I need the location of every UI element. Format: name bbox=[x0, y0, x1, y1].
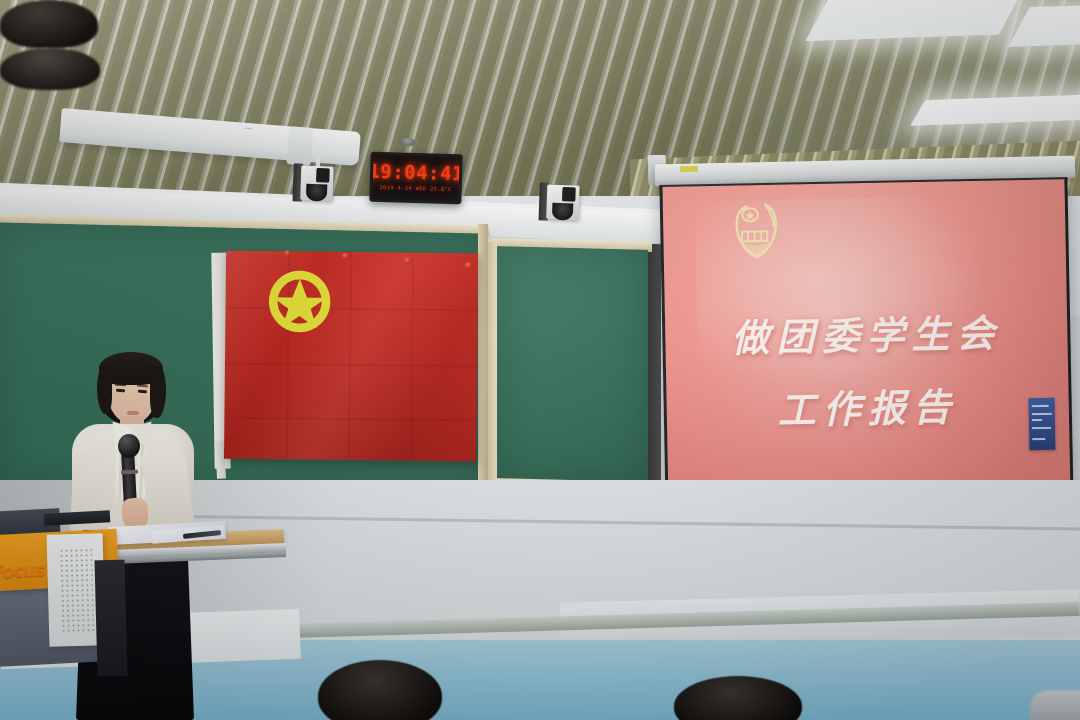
speaker-grille-icon bbox=[59, 548, 94, 633]
chalkboard-frame-left bbox=[488, 242, 497, 492]
flag-pin bbox=[342, 253, 349, 259]
communist-youth-league-emblem-icon bbox=[725, 199, 788, 272]
ceiling-smoke-detector-icon bbox=[400, 138, 415, 146]
audience-shoulder bbox=[1030, 690, 1080, 720]
projector-brand-label: Focus bbox=[0, 560, 45, 584]
speaker-mouth bbox=[127, 411, 139, 415]
audience-head-highlight bbox=[0, 0, 98, 48]
screen-housing-label bbox=[680, 166, 698, 172]
wall-speaker bbox=[538, 182, 581, 225]
chalkboard-secondary bbox=[496, 246, 648, 488]
communist-youth-league-flag bbox=[212, 251, 482, 472]
wall-notice bbox=[1029, 398, 1056, 450]
slide-title-line-1: 做团委学生会 bbox=[665, 301, 1068, 364]
slide-title-line-2: 工作报告 bbox=[666, 374, 1069, 437]
air-conditioner-end-cap bbox=[287, 126, 314, 166]
wall-speaker bbox=[292, 163, 335, 206]
classroom-photo: ••• 19:04:41 2019-4-24 WED 25.8°C bbox=[0, 0, 1080, 720]
clock-time-display: 19:04:41 bbox=[369, 163, 462, 185]
youth-league-star-emblem-icon bbox=[266, 268, 333, 335]
flag-pin bbox=[404, 258, 411, 264]
clock-secondary-display: 2019-4-24 WED 25.8°C bbox=[380, 185, 452, 193]
lectern-side-panel bbox=[94, 560, 127, 677]
speaker-tweeter-icon bbox=[316, 168, 330, 183]
speaker-eye bbox=[138, 390, 147, 394]
speaker-hair-side bbox=[97, 366, 112, 414]
flag-field bbox=[224, 251, 478, 462]
speaker-eye bbox=[116, 389, 125, 393]
speaker-hair-side bbox=[150, 366, 166, 418]
audience-head-highlight bbox=[0, 48, 100, 90]
led-wall-clock: 19:04:41 2019-4-24 WED 25.8°C bbox=[369, 152, 462, 205]
speaker-tweeter-icon bbox=[562, 187, 576, 202]
air-conditioner-brand-label: ••• bbox=[245, 126, 252, 133]
microphone-icon bbox=[118, 434, 140, 458]
flag-pin bbox=[465, 262, 472, 268]
flag-pin bbox=[284, 250, 291, 256]
